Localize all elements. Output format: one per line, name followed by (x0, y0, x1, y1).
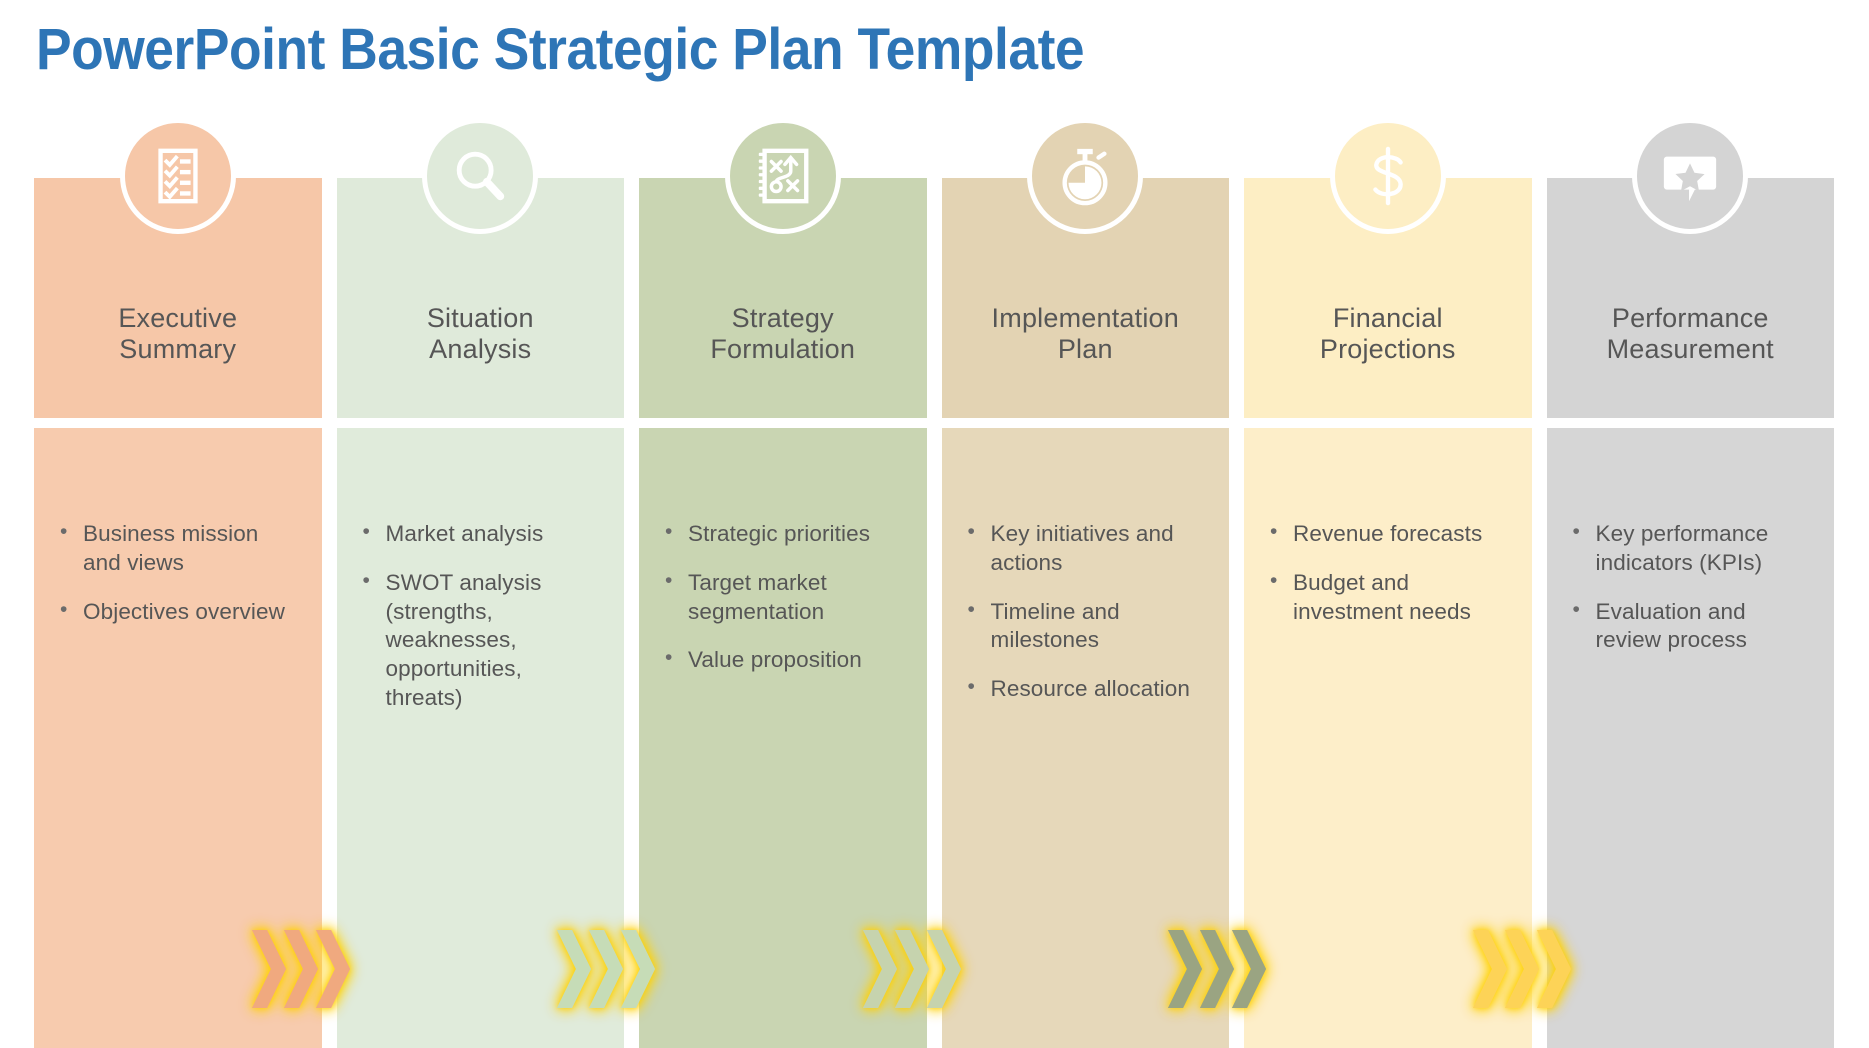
column-financial-projections[interactable]: FinancialProjectionsRevenue forecastsBud… (1244, 178, 1532, 1048)
bullet-list-executive-summary: Business mission and viewsObjectives ove… (54, 520, 302, 626)
chevron-icon (1230, 926, 1268, 1012)
column-title-line2: Projections (1320, 334, 1456, 366)
list-item: Revenue forecasts (1264, 520, 1512, 549)
column-strategy-formulation[interactable]: StrategyFormulationStrategic prioritiesT… (639, 178, 927, 1048)
list-item: Value proposition (659, 646, 907, 675)
list-item: Evaluation and review process (1567, 598, 1815, 656)
star-bubble-icon (1632, 118, 1748, 234)
bullet-list-financial-projections: Revenue forecastsBudget and investment n… (1264, 520, 1512, 626)
list-item: Key performance indicators (KPIs) (1567, 520, 1815, 578)
column-header-executive-summary: ExecutiveSummary (34, 178, 322, 418)
playbook-icon (725, 118, 841, 234)
column-title-line1: Performance (1607, 303, 1774, 335)
chevron-arrow-group-5 (1471, 926, 1567, 1012)
column-title-line2: Formulation (710, 334, 855, 366)
column-title-line2: Summary (118, 334, 237, 366)
column-title-line2: Analysis (427, 334, 534, 366)
column-implementation-plan[interactable]: ImplementationPlanKey initiatives and ac… (942, 178, 1230, 1048)
bullet-list-situation-analysis: Market analysisSWOT analysis (strengths,… (357, 520, 605, 713)
stopwatch-icon (1027, 118, 1143, 234)
column-title-executive-summary: ExecutiveSummary (112, 303, 243, 366)
column-title-performance-measurement: PerformanceMeasurement (1601, 303, 1780, 366)
chevron-arrow-group-4 (1166, 926, 1262, 1012)
dollar-icon (1330, 118, 1446, 234)
list-item: Key initiatives and actions (962, 520, 1210, 578)
column-title-line1: Situation (427, 303, 534, 335)
list-item: Market analysis (357, 520, 605, 549)
column-title-strategy-formulation: StrategyFormulation (704, 303, 861, 366)
chevron-arrow-group-2 (555, 926, 651, 1012)
column-executive-summary[interactable]: ExecutiveSummaryBusiness mission and vie… (34, 178, 322, 1048)
bullet-list-strategy-formulation: Strategic prioritiesTarget market segmen… (659, 520, 907, 675)
column-title-line1: Implementation (992, 303, 1179, 335)
list-item: Timeline and milestones (962, 598, 1210, 656)
column-title-line1: Executive (118, 303, 237, 335)
column-header-financial-projections: FinancialProjections (1244, 178, 1532, 418)
list-item: Budget and investment needs (1264, 569, 1512, 627)
columns-container: ExecutiveSummaryBusiness mission and vie… (34, 178, 1834, 1048)
page-title: PowerPoint Basic Strategic Plan Template (36, 16, 1084, 83)
list-item: SWOT analysis (strengths, weaknesses, op… (357, 569, 605, 713)
chevron-arrow-group-1 (250, 926, 346, 1012)
list-item: Objectives overview (54, 598, 302, 627)
bullet-list-implementation-plan: Key initiatives and actionsTimeline and … (962, 520, 1210, 704)
column-situation-analysis[interactable]: SituationAnalysisMarket analysisSWOT ana… (337, 178, 625, 1048)
chevron-icon (619, 926, 657, 1012)
column-header-situation-analysis: SituationAnalysis (337, 178, 625, 418)
column-title-line2: Plan (992, 334, 1179, 366)
bullet-list-performance-measurement: Key performance indicators (KPIs)Evaluat… (1567, 520, 1815, 655)
column-title-situation-analysis: SituationAnalysis (421, 303, 540, 366)
slide-canvas: PowerPoint Basic Strategic Plan Template… (0, 0, 1869, 1048)
column-header-performance-measurement: PerformanceMeasurement (1547, 178, 1835, 418)
list-item: Target market segmentation (659, 569, 907, 627)
column-header-implementation-plan: ImplementationPlan (942, 178, 1230, 418)
column-performance-measurement[interactable]: PerformanceMeasurementKey performance in… (1547, 178, 1835, 1048)
list-item: Resource allocation (962, 675, 1210, 704)
chevron-icon (1535, 926, 1573, 1012)
column-title-implementation-plan: ImplementationPlan (986, 303, 1185, 366)
column-title-line1: Strategy (710, 303, 855, 335)
chevron-icon (925, 926, 963, 1012)
list-item: Strategic priorities (659, 520, 907, 549)
chevron-arrow-group-3 (861, 926, 957, 1012)
column-header-strategy-formulation: StrategyFormulation (639, 178, 927, 418)
column-body-performance-measurement: Key performance indicators (KPIs)Evaluat… (1547, 428, 1835, 1048)
column-title-financial-projections: FinancialProjections (1314, 303, 1462, 366)
chevron-icon (314, 926, 352, 1012)
column-title-line2: Measurement (1607, 334, 1774, 366)
magnifier-icon (422, 118, 538, 234)
list-item: Business mission and views (54, 520, 302, 578)
checklist-icon (120, 118, 236, 234)
column-title-line1: Financial (1320, 303, 1456, 335)
